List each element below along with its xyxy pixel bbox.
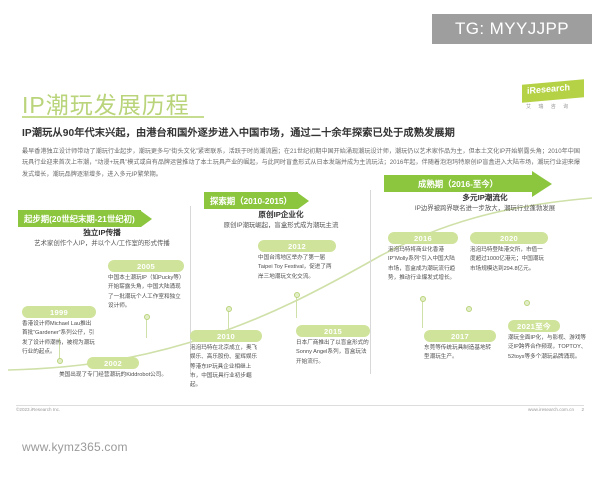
year-badge: 2012 bbox=[258, 240, 336, 252]
arrow-head-icon-1 bbox=[141, 211, 152, 227]
page-title: IP潮玩发展历程 bbox=[22, 86, 190, 120]
arrow-head-icon-2 bbox=[298, 193, 309, 209]
event-card[interactable]: 2002 美国出现了专门经营潮玩的Kiddrobot公司。 bbox=[58, 357, 168, 380]
connector-dot bbox=[420, 296, 426, 302]
event-description: 中国本土潮玩IP（如Pucky等）开始崭露头角，中国大陆涌现了一批潮玩个人工作室… bbox=[108, 274, 184, 311]
event-description: 美国出现了专门经营潮玩的Kiddrobot公司。 bbox=[58, 371, 168, 380]
connector-stem bbox=[228, 310, 229, 330]
year-badge: 2016 bbox=[388, 232, 458, 244]
connector-dot bbox=[226, 306, 232, 312]
event-description: 东莞等传统玩具制造基地转型潮玩生产。 bbox=[424, 344, 496, 363]
year-badge: 2002 bbox=[87, 357, 139, 369]
connector-dot bbox=[294, 292, 300, 298]
iresearch-logo: iResearch 艾 瑞 咨 询 bbox=[522, 82, 586, 112]
event-description: 泡泡玛特在北京成立，奥飞娱乐、高乐股份、星辉娱乐等港东IP玩具企业相继上市，中国… bbox=[190, 344, 262, 390]
phase-panel-maturity: 多元IP潮流化 IP边界被跨界联名进一步放大，潮玩行业蓬勃发展 bbox=[374, 192, 596, 214]
footer-copyright: ©2023.iResearch Inc. bbox=[16, 407, 60, 412]
year-badge: 2021至今 bbox=[508, 320, 560, 332]
year-badge: 2010 bbox=[190, 330, 262, 342]
connector-dot bbox=[144, 314, 150, 320]
connector-stem bbox=[296, 296, 297, 318]
event-description: 日本厂商推出了以盲盒形式的Sonny Angel系列，盲盒玩法开始流行。 bbox=[296, 339, 370, 367]
event-description: 泡泡玛特登陆港交所，市值一度超过1000亿港元；中国潮玩市场规模达到294.8亿… bbox=[470, 246, 548, 274]
phase-label-2: 探索期（2010-2015） bbox=[204, 192, 298, 209]
telegram-watermark: TG: MYYJJPP bbox=[432, 14, 592, 44]
event-card[interactable]: 2016 泡泡玛特将商业化香港IP“Molly系列”引入中国大陆市场，盲盒成为潮… bbox=[388, 232, 458, 283]
phase-separator-2 bbox=[370, 190, 371, 374]
phase-desc-2: 原创IP潮玩崛起，盲盒形式成为潮玩主流 bbox=[192, 221, 370, 231]
phase-panel-startup: 独立IP传播 艺术家创作个人IP，并以个人/工作室的形式传播 bbox=[14, 227, 190, 249]
footer-page-number: 2 bbox=[581, 407, 584, 412]
event-card[interactable]: 1999 香港设计师Michael Lau推出首批“Gardener”系列公仔，… bbox=[22, 306, 96, 357]
footer-website: www.iresearch.com.cn bbox=[528, 407, 574, 412]
footer-divider bbox=[16, 405, 584, 406]
event-card[interactable]: 2010 泡泡玛特在北京成立，奥飞娱乐、高乐股份、星辉娱乐等港东IP玩具企业相继… bbox=[190, 330, 262, 390]
year-badge: 2017 bbox=[424, 330, 496, 342]
phase-desc-3: IP边界被跨界联名进一步放大，潮玩行业蓬勃发展 bbox=[374, 204, 596, 214]
phase-head-3: 多元IP潮流化 bbox=[374, 192, 596, 204]
phase-arrow-exploration: 探索期（2010-2015） bbox=[196, 192, 309, 209]
year-badge: 2015 bbox=[296, 325, 370, 337]
logo-subtext: 艾 瑞 咨 询 bbox=[526, 103, 571, 110]
phase-arrow-maturity: 成熟期（2016-至今） bbox=[376, 175, 552, 192]
phase-desc-1: 艺术家创作个人IP，并以个人/工作室的形式传播 bbox=[14, 239, 190, 249]
year-badge: 1999 bbox=[22, 306, 96, 318]
phase-panel-exploration: 原创IP企业化 原创IP潮玩崛起，盲盒形式成为潮玩主流 bbox=[192, 209, 370, 231]
site-url-overlay: www.kymz365.com bbox=[22, 440, 128, 454]
phase-head-1: 独立IP传播 bbox=[14, 227, 190, 239]
page-subtitle: IP潮玩从90年代末兴起，由港台和国外逐步进入中国市场，通过二十余年探索已处于成… bbox=[22, 124, 582, 139]
phase-head-2: 原创IP企业化 bbox=[192, 209, 370, 221]
event-description: 泡泡玛特将商业化香港IP“Molly系列”引入中国大陆市场，盲盒成为潮玩流行趋势… bbox=[388, 246, 458, 283]
event-card[interactable]: 2017 东莞等传统玩具制造基地转型潮玩生产。 bbox=[424, 330, 496, 363]
event-card[interactable]: 2005 中国本土潮玩IP（如Pucky等）开始崭露头角，中国大陆涌现了一批潮玩… bbox=[108, 260, 184, 311]
event-card[interactable]: 2021至今 潮玩全面IP化，与影视、游戏等泛IP跨界合作频现，TOPTOY、5… bbox=[508, 320, 588, 362]
event-description: 潮玩全面IP化，与影视、游戏等泛IP跨界合作频现，TOPTOY、52toys等多… bbox=[508, 334, 588, 362]
slide-canvas: TG: MYYJJPP iResearch 艾 瑞 咨 询 IP潮玩发展历程 I… bbox=[0, 0, 600, 480]
connector-stem bbox=[422, 300, 423, 328]
phase-label-1: 起步期(20世纪末期-21世纪初) bbox=[18, 210, 141, 227]
event-card[interactable]: 2020 泡泡玛特登陆港交所，市值一度超过1000亿港元；中国潮玩市场规模达到2… bbox=[470, 232, 548, 274]
event-description: 香港设计师Michael Lau推出首批“Gardener”系列公仔，引发了设计… bbox=[22, 320, 96, 357]
event-card[interactable]: 2012 中国台湾地区举办了第一届Taipei Toy Festival，促进了… bbox=[258, 240, 336, 282]
phase-label-3: 成熟期（2016-至今） bbox=[384, 175, 532, 192]
event-card[interactable]: 2015 日本厂商推出了以盲盒形式的Sonny Angel系列，盲盒玩法开始流行… bbox=[296, 325, 370, 367]
connector-dot bbox=[524, 300, 530, 306]
title-underline bbox=[22, 116, 204, 118]
phase-arrow-startup: 起步期(20世纪末期-21世纪初) bbox=[18, 210, 152, 227]
year-badge: 2005 bbox=[108, 260, 184, 272]
year-badge: 2020 bbox=[470, 232, 548, 244]
event-description: 中国台湾地区举办了第一届Taipei Toy Festival，促进了两岸三地潮… bbox=[258, 254, 336, 282]
connector-dot bbox=[466, 306, 472, 312]
